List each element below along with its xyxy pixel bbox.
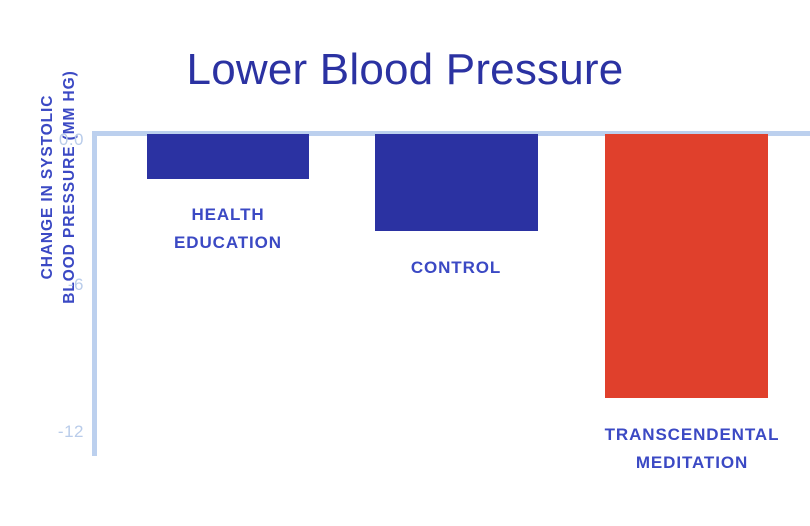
bar-label-control: CONTROL [356, 254, 556, 282]
bar-label-health-education-line-2: EDUCATION [128, 229, 328, 257]
y-axis-line [92, 131, 97, 456]
bar-control[interactable] [375, 134, 538, 231]
bar-health-education[interactable] [147, 134, 309, 179]
y-tick-label-0: 0.0 [14, 130, 84, 150]
y-tick-label-2: -12 [14, 422, 84, 442]
bar-label-health-education-line-1: HEALTH [128, 201, 328, 229]
bar-label-transcendental-meditation-line-2: MEDITATION [576, 449, 808, 477]
bar-transcendental-meditation[interactable] [605, 134, 768, 398]
bar-label-transcendental-meditation-line-1: TRANSCENDENTAL [576, 421, 808, 449]
chart-title: Lower Blood Pressure [0, 42, 810, 98]
y-tick-label-1: -6 [14, 275, 84, 295]
y-axis-tick-labels: 0.0 -6 -12 [10, 0, 84, 526]
bar-label-health-education: HEALTH EDUCATION [128, 201, 328, 257]
bar-label-control-line-1: CONTROL [356, 254, 556, 282]
bar-label-transcendental-meditation: TRANSCENDENTAL MEDITATION [576, 421, 808, 477]
bar-chart: Lower Blood Pressure CHANGE IN SYSTOLIC … [0, 0, 810, 526]
